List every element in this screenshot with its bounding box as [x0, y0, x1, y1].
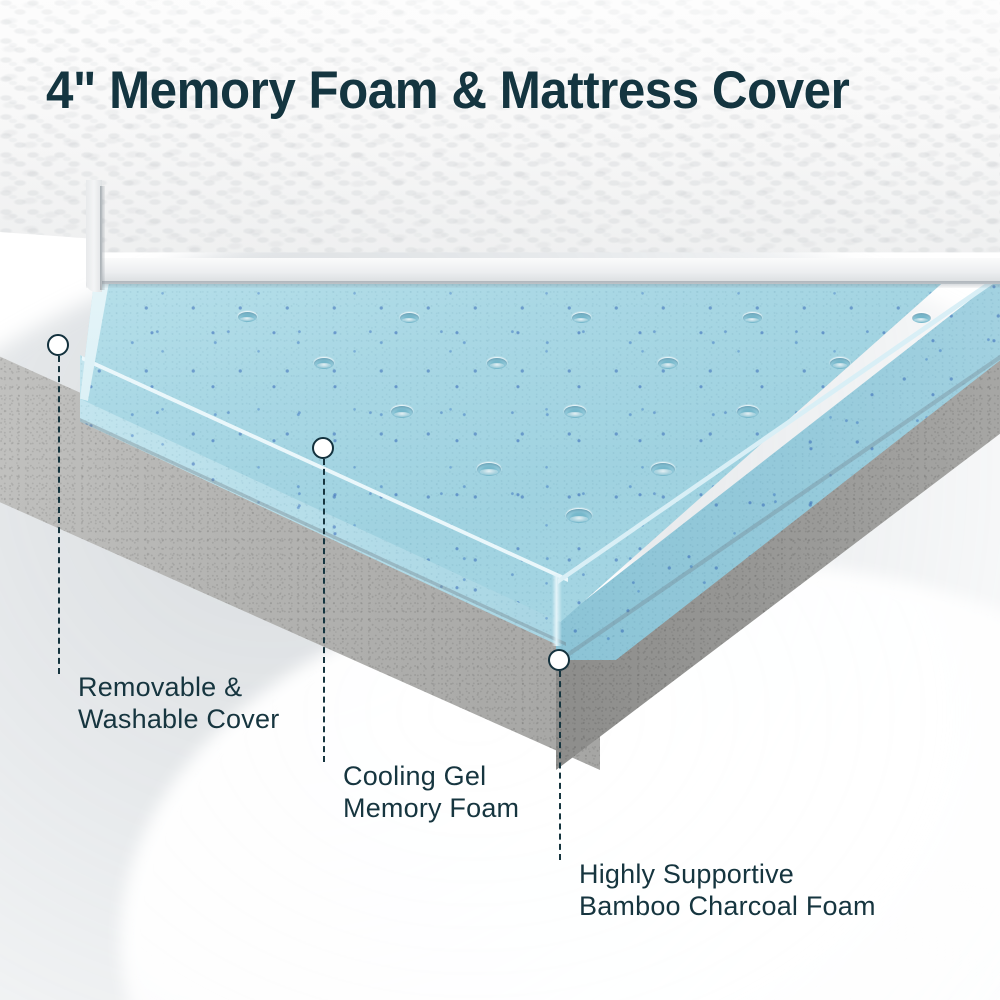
callout-marker-cooling-gel-memory-foam[interactable] — [312, 437, 334, 459]
ventilation-dimple — [912, 313, 931, 323]
ventilation-dimple — [566, 509, 592, 523]
page-title: 4" Memory Foam & Mattress Cover — [46, 64, 849, 117]
ventilation-dimple — [743, 313, 762, 323]
callout-label-removable-washable-cover: Removable & Washable Cover — [78, 672, 279, 736]
cover-left-edge-shadow — [100, 186, 105, 290]
ventilation-dimple — [400, 313, 419, 323]
ventilation-dimple — [477, 463, 501, 476]
ventilation-dimple — [238, 312, 257, 322]
gel-foam-corner-highlight — [552, 574, 562, 646]
cover-edge-shadow — [86, 281, 1000, 288]
mattress-cover — [0, 0, 1000, 300]
callout-leader-line-highly-supportive-bamboo-charcoal-foam — [559, 671, 561, 860]
callout-leader-line-cooling-gel-memory-foam — [323, 459, 325, 762]
cover-sheen — [0, 0, 1000, 300]
callout-label-highly-supportive-bamboo-charcoal-foam: Highly Supportive Bamboo Charcoal Foam — [579, 859, 876, 923]
product-infographic: 4" Memory Foam & Mattress Cover Removabl… — [0, 0, 1000, 1000]
callout-marker-removable-washable-cover[interactable] — [47, 334, 69, 356]
callout-leader-line-removable-washable-cover — [58, 356, 60, 674]
ventilation-dimple — [830, 358, 850, 369]
ventilation-dimple — [564, 406, 586, 418]
callout-label-cooling-gel-memory-foam: Cooling Gel Memory Foam — [343, 761, 519, 825]
ventilation-dimple — [391, 406, 413, 418]
ventilation-dimple — [737, 406, 759, 418]
ventilation-dimple — [651, 463, 675, 476]
ventilation-dimple — [314, 358, 334, 369]
ventilation-dimple — [487, 358, 507, 369]
callout-marker-highly-supportive-bamboo-charcoal-foam[interactable] — [548, 649, 570, 671]
ventilation-dimple — [572, 313, 591, 323]
ventilation-dimple — [658, 358, 678, 369]
